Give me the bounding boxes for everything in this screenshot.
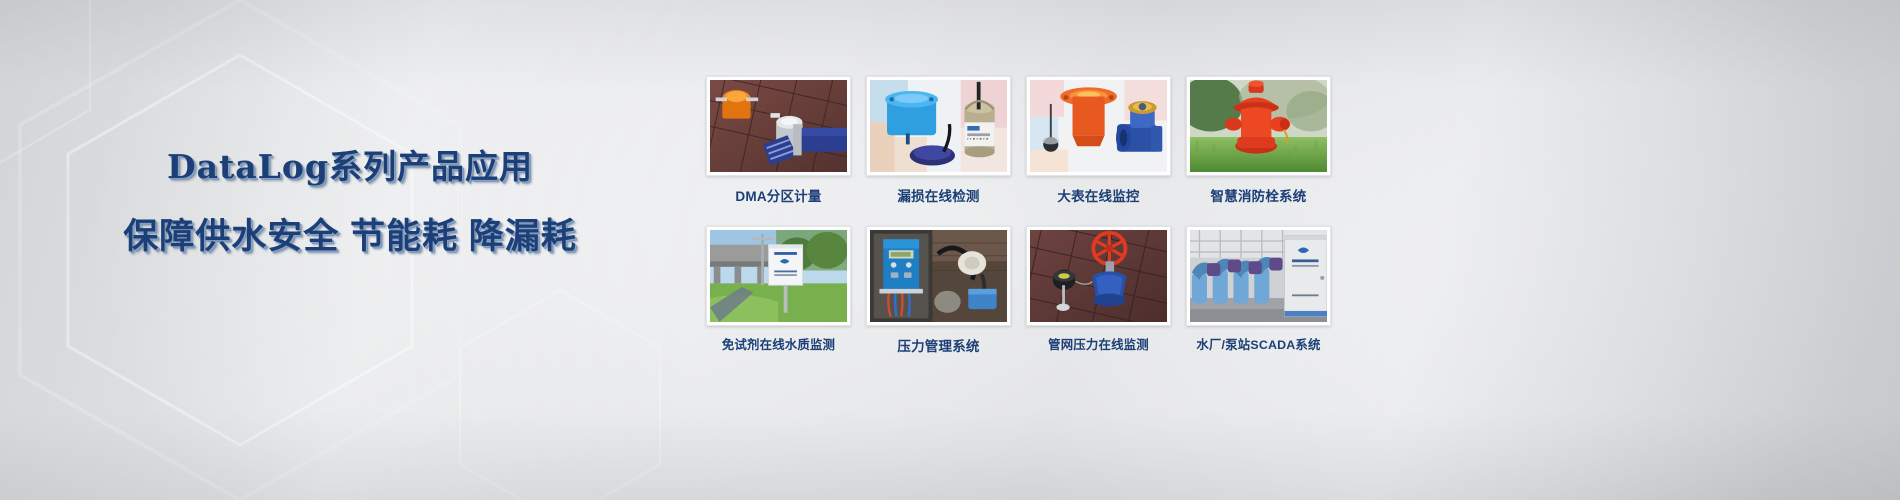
product-thumbnail[interactable]: [706, 226, 851, 326]
product-application-banner: DataLog系列产品应用 保障供水安全 节能耗 降漏耗: [0, 0, 1900, 500]
large-water-meter-logger-photo: [1030, 80, 1167, 172]
product-card-dma[interactable]: DMA分区计量: [706, 76, 851, 221]
product-thumbnail[interactable]: [866, 76, 1011, 176]
product-card-smart-hydrant[interactable]: 智慧消防栓系统: [1186, 76, 1331, 221]
product-card-water-quality[interactable]: 免试剂在线水质监测: [706, 226, 851, 371]
product-label: 水厂/泵站SCADA系统: [1186, 335, 1331, 353]
headline-block: DataLog系列产品应用 保障供水安全 节能耗 降漏耗: [0, 140, 700, 259]
red-fire-hydrant-photo: [1190, 80, 1327, 172]
product-card-pressure-management[interactable]: 压力管理系统: [866, 226, 1011, 371]
product-thumbnail[interactable]: [1186, 226, 1331, 326]
product-label: 免试剂在线水质监测: [706, 335, 851, 353]
product-card-network-pressure[interactable]: 管网压力在线监测: [1026, 226, 1171, 371]
product-label: 智慧消防栓系统: [1186, 185, 1331, 205]
product-label: 管网压力在线监测: [1026, 335, 1171, 353]
water-quality-station-sign-photo: [710, 230, 847, 322]
product-thumbnail[interactable]: [706, 76, 851, 176]
headline-primary: DataLog系列产品应用: [0, 140, 700, 188]
product-card-scada[interactable]: 水厂/泵站SCADA系统: [1186, 226, 1331, 371]
red-valve-wheel-brick-photo: [1030, 230, 1167, 322]
product-label: 压力管理系统: [866, 335, 1011, 355]
product-card-leak-detection[interactable]: 漏损在线检测: [866, 76, 1011, 221]
blue-control-cabinet-photo: [870, 230, 1007, 322]
dma-flow-meter-valve-photo: [710, 80, 847, 172]
product-card-large-meter[interactable]: 大表在线监控: [1026, 76, 1171, 221]
product-label: DMA分区计量: [706, 185, 851, 205]
product-label: 大表在线监控: [1026, 185, 1171, 205]
product-label: 漏损在线检测: [866, 185, 1011, 205]
headline-secondary: 保障供水安全 节能耗 降漏耗: [0, 208, 700, 259]
product-thumbnail[interactable]: [1026, 76, 1171, 176]
product-thumbnail[interactable]: [866, 226, 1011, 326]
pump-station-blue-pipes-photo: [1190, 230, 1327, 322]
product-thumbnail[interactable]: [1186, 76, 1331, 176]
product-thumbnail[interactable]: [1026, 226, 1171, 326]
product-grid: DMA分区计量: [706, 76, 1331, 371]
leak-detection-loggers-photo: [870, 80, 1007, 172]
